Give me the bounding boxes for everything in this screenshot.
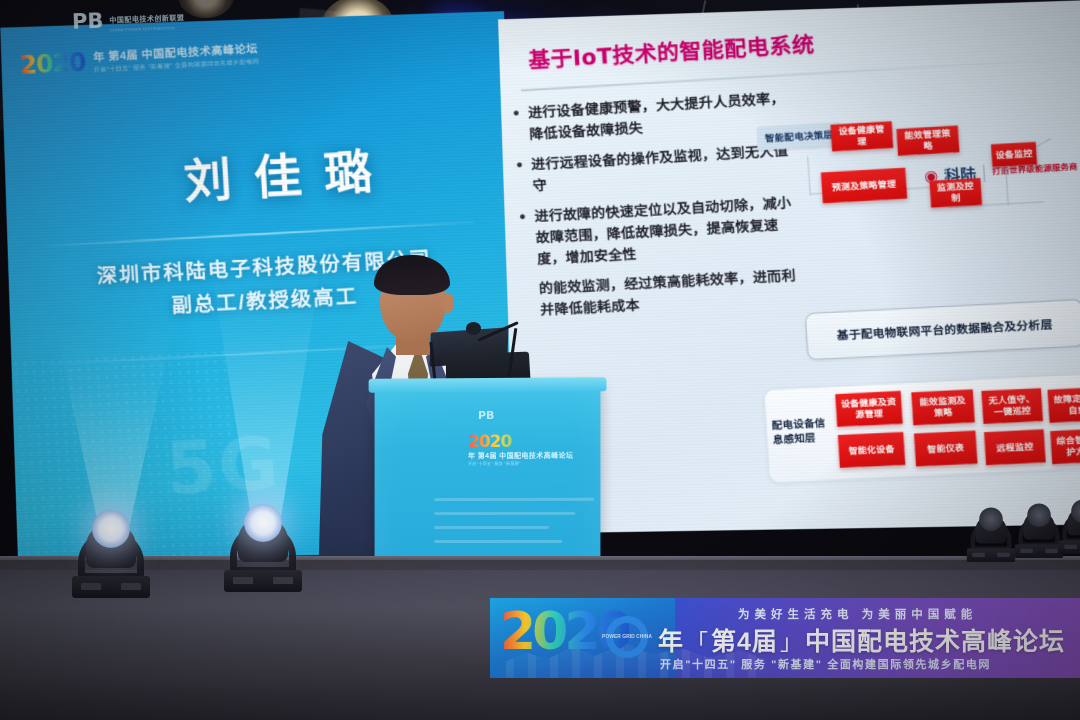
banner-title: 年 「 第4届 」 中国配电技术高峰论坛 (658, 622, 1065, 658)
bullet-dot-icon: ● (515, 155, 525, 198)
podium-year-logo: 2020 (468, 433, 598, 451)
bullet-text: 的能效监测，经过策高能耗效率，进而利并降低能耗成本 (538, 266, 806, 322)
light-base (224, 570, 302, 592)
moving-head-light-2 (224, 482, 302, 592)
conference-year-logo: 2020 (19, 49, 86, 77)
sense-box-r2-c4: 综合智能保护方案 (1050, 428, 1080, 464)
bullet-text: 进行设备健康预警，大大提升人员效率，降低设备故障损失 (528, 88, 796, 146)
hair (374, 255, 450, 295)
list-item-occluded: ● 的能效监测，经过策高能耗效率，进而利并降低能耗成本 (523, 266, 807, 323)
venue-watermark: PB 中国配电技术创新联盟 CHINA POWER DISTRIBUTION (72, 1, 233, 37)
connector-line (807, 157, 811, 196)
sense-layer-label: 配电设备信息感知层 (772, 417, 835, 448)
sense-box-r2-c1: 智能化设备 (838, 432, 906, 468)
banner-ring-text: POWER GRID CHINA (602, 634, 652, 640)
venue-logo-sub: CHINA POWER DISTRIBUTION (110, 24, 185, 32)
moving-head-light-4 (1015, 490, 1063, 558)
company-tagline: 打造世界级能源服务商 (992, 163, 1078, 177)
connector-line (946, 167, 949, 188)
conference-strip-subtitle: 开启"十四五" 服务 "新基建" 全面构建国际领先城乡配电网 (94, 56, 260, 74)
banner-slogan: 为美好生活充电 为美丽中国赋能 (738, 606, 977, 622)
conference-strip-title: 年 第4届 中国配电技术高峰论坛 (93, 40, 259, 65)
diagram-box-forecast-strategy: 预测及策略管理 (821, 168, 907, 204)
banner-subtitle: 开启"十四五" 服务 "新基建" 全面构建国际领先城乡配电网 (660, 656, 991, 672)
bracket-close-icon: 」 (780, 625, 803, 657)
light-base (967, 548, 1015, 562)
light-lens-icon (244, 504, 282, 542)
speaker-name: 刘佳璐 (74, 126, 485, 218)
diagram-box-monitor-control: 监测及控制 (929, 178, 982, 208)
slide-title-underline (521, 57, 1080, 92)
podium-badge-mark: PB (478, 409, 494, 422)
connector-line (1003, 138, 1052, 166)
light-lens-icon (92, 510, 130, 548)
sense-layer-container (763, 372, 1080, 484)
light-lens-icon (1027, 503, 1051, 527)
diagram-box-energy-strategy: 能效管理策略 (896, 126, 959, 156)
bullet-dot-icon: ● (512, 104, 522, 147)
light-lens-icon (979, 507, 1003, 531)
company-logo-mark: ◉ (924, 166, 938, 185)
venue-logo-text: 中国配电技术创新联盟 (109, 14, 184, 24)
bullet-text: 进行故障的快速定位以及自动切除，减小故障范围，降低故障损失，提高恢复速度，增加安… (534, 192, 804, 270)
company-logo-name: 科陆 (944, 162, 977, 185)
connector-line (810, 186, 947, 195)
microphone-head-icon (466, 322, 481, 335)
podium-text-lines (434, 498, 594, 554)
connector-line (1005, 164, 1009, 205)
podium-conference-sub: 开启"十四五" 服务 "新基建" (468, 461, 598, 467)
light-base (72, 576, 150, 598)
platform-layer-box: 基于配电物联网平台的数据融合及分析层 (805, 299, 1080, 361)
company-logo: ◉ 科陆 打造世界级能源服务商 (923, 152, 1080, 189)
podium-conference-logo: 2020 年 第4届 中国配电技术高峰论坛 开启"十四五" 服务 "新基建" (468, 433, 598, 467)
moving-head-light-5 (1059, 486, 1080, 554)
sense-box-r2-c3: 远程监控 (984, 429, 1046, 465)
ear (442, 293, 454, 313)
stage-scene: 2020 年 第4届 中国配电技术高峰论坛 开启"十四五" 服务 "新基建" 全… (0, 0, 1080, 720)
banner-title-edition: 第4届 (711, 622, 778, 658)
sense-box-r2-c2: 智能仪表 (914, 431, 978, 467)
moving-head-light-1 (72, 488, 150, 598)
architecture-diagram: 智能配电决策层 设备健康管理 能效管理策略 设备监控 预测及策略管理 监测及控制… (756, 94, 1080, 483)
bullet-text: 进行远程设备的操作及监视，达到无人值守 (531, 140, 799, 197)
sense-box-r1-c1: 设备健康及资源管理 (835, 391, 903, 427)
diagram-box-device-monitor: 设备监控 (991, 142, 1037, 167)
podium-badge: PB (478, 406, 524, 422)
banner-title-year: 年 (658, 622, 684, 658)
sense-box-r1-c3: 无人值守、一键巡控 (981, 388, 1043, 424)
podium-conference-title: 年 第4届 中国配电技术高峰论坛 (468, 451, 598, 462)
light-base (1059, 540, 1080, 554)
list-item: ● 进行设备健康预警，大大提升人员效率，降低设备故障损失 (512, 88, 796, 147)
banner-title-main: 中国配电技术高峰论坛 (805, 622, 1065, 658)
bottom-banner: 2020 POWER GRID CHINA 为美好生活充电 为美丽中国赋能 年 … (490, 598, 1080, 678)
divider-line (48, 221, 474, 247)
slide-title: 基于IoT技术的智能配电系统 (527, 28, 815, 75)
sense-box-r1-c4: 故障定位及自愈 (1047, 387, 1080, 423)
banner-logo-ring: POWER GRID CHINA (606, 616, 648, 658)
sense-box-r1-c2: 能效监测及策略 (911, 389, 975, 425)
logo-divider (983, 164, 985, 182)
list-item: ● 进行故障的快速定位以及自动切除，减小故障范围，降低故障损失，提高恢复速度，增… (519, 192, 804, 271)
diagram-box-device-health: 设备健康管理 (830, 121, 893, 151)
connector-line (948, 201, 1044, 208)
venue-logo-mark: PB (72, 10, 104, 32)
podium-top-edge (369, 377, 607, 393)
decision-layer-label: 智能配电决策层 (757, 122, 842, 150)
bracket-open-icon: 「 (686, 625, 709, 657)
list-item: ● 进行远程设备的操作及监视，达到无人值守 (515, 140, 799, 198)
moving-head-light-3 (967, 494, 1015, 562)
light-base (1015, 544, 1063, 558)
slide-bullet-list: ● 进行设备健康预警，大大提升人员效率，降低设备故障损失 ● 进行远程设备的操作… (512, 88, 807, 332)
